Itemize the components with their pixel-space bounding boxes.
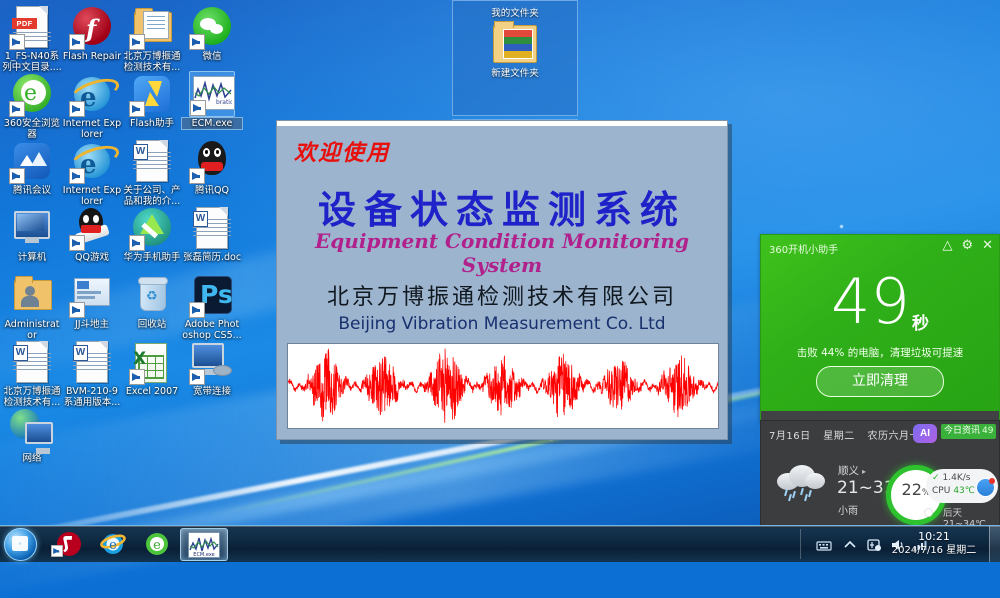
boot-time-unit: 秒: [912, 314, 929, 334]
jj-game-icon: [69, 272, 115, 318]
vibration-waveform-chart: [287, 343, 719, 429]
weather-system-widget[interactable]: 7月16日 星期二 农历六月十一 AI 今日资讯49 顺义▸ 21~31 小雨 …: [760, 420, 1000, 528]
notification-badge-icon[interactable]: [976, 478, 995, 497]
wallpaper-sparkle: [840, 225, 843, 228]
sun-icon: [921, 505, 934, 518]
desktop-icon-label: 宽带连接: [182, 386, 242, 397]
boot-time-value: 49秒: [761, 271, 999, 355]
ie-icon: e: [69, 138, 115, 184]
desktop-icon-label: Internet Explorer: [62, 118, 122, 140]
desktop-icon-label: 网络: [2, 453, 62, 464]
net-speed-value: 1.4K/s: [943, 473, 971, 483]
shortcut-arrow-icon: [69, 302, 85, 318]
taskbar-item-ecm-app[interactable]: ECM.exe: [180, 528, 228, 561]
desktop-icon-label: 360安全浏览器: [2, 118, 62, 140]
desktop-icon[interactable]: eInternet Explorer: [62, 71, 122, 140]
desktop-icon[interactable]: PDF1_FS-N40系列中文目录....: [2, 4, 62, 73]
shortcut-arrow-icon: [189, 168, 205, 184]
desktop-icon[interactable]: WBVM-210-9系通用版本...: [62, 339, 122, 408]
network-icon: [9, 406, 55, 452]
svg-text:e: e: [109, 538, 117, 553]
weather-date: 7月16日: [769, 431, 811, 442]
folder-doc-icon: [129, 4, 175, 50]
wechat-icon: [189, 4, 235, 50]
show-hidden-icons-chevron-icon[interactable]: [842, 538, 858, 552]
desktop-icon[interactable]: brationECM.exe: [182, 71, 242, 129]
shortcut-arrow-icon: [69, 101, 85, 117]
desktop-icon-label: 关于公司、产品和我的介...: [122, 185, 182, 207]
widget-subtitle: 击败 44% 的电脑，清理垃圾可提速: [761, 345, 999, 360]
desktop-icon[interactable]: PsAdobe Photoshop CS5...: [182, 272, 242, 341]
system-tray[interactable]: 10:21 2024/7/16 星期二: [800, 526, 1000, 562]
desktop-icon-label: Excel 2007: [122, 386, 182, 397]
desktop-icon-label: 华为手机助手: [122, 252, 182, 263]
gear-icon[interactable]: ⚙: [961, 238, 973, 251]
computer-icon: [9, 205, 55, 251]
rain-cloud-icon: [775, 463, 827, 497]
cpu-temp-value: 43℃: [953, 486, 975, 496]
splash-company-chinese: 北京万博振通检测技术有限公司: [277, 279, 727, 311]
desktop-icon-label: BVM-210-9系通用版本...: [62, 386, 122, 408]
waveform-svg: [288, 344, 718, 428]
shirt-icon[interactable]: △: [942, 238, 952, 251]
ie-icon: e: [69, 71, 115, 117]
clean-now-button[interactable]: 立即清理: [816, 366, 944, 397]
desktop-icon-label: 回收站: [122, 319, 182, 330]
ecm-app-icon: ECM.exe: [188, 532, 220, 558]
desktop-icon[interactable]: 网络: [2, 406, 62, 464]
svg-text:e: e: [153, 538, 161, 553]
shortcut-arrow-icon: [190, 100, 206, 116]
tencent-meeting-icon: [9, 138, 55, 184]
shortcut-arrow-icon: [69, 34, 85, 50]
taskbar-item-flash-player[interactable]: [48, 528, 90, 559]
desktop-icon[interactable]: W张磊简历.doc: [182, 205, 242, 263]
shortcut-arrow-icon: [9, 34, 25, 50]
desktop-icon-label: 北京万博振通检测技术有...: [2, 386, 62, 408]
photoshop-icon: Ps: [189, 272, 235, 318]
folder-stack-caption: 我的文件夹: [453, 1, 577, 19]
splash-title-chinese: 设备状态监测系统: [277, 179, 727, 234]
taskbar-item-360-browser[interactable]: e: [136, 528, 178, 559]
shortcut-arrow-icon: [69, 235, 85, 251]
360-browser-icon: e: [144, 531, 170, 557]
desktop-icon[interactable]: 腾讯QQ: [182, 138, 242, 196]
shortcut-arrow-icon: [129, 369, 145, 385]
news-count: 49: [982, 426, 993, 436]
desktop-icon-label: 北京万博振通检测技术有...: [122, 51, 182, 73]
user-folder-icon: [9, 272, 55, 318]
ai-button[interactable]: AI: [913, 424, 937, 443]
taskbar[interactable]: e e ECM.exe 10:21 2024/7/16 星期二: [0, 525, 1000, 562]
shortcut-arrow-icon: [189, 369, 205, 385]
splash-window[interactable]: 欢迎使用 设备状态监测系统 Equipment Condition Monito…: [276, 120, 728, 440]
svg-text:ECM.exe: ECM.exe: [193, 552, 214, 557]
splash-top-border: [277, 121, 727, 126]
desktop-icon[interactable]: ♻回收站: [122, 272, 182, 330]
word-doc-icon: W: [189, 205, 235, 251]
huawei-icon: [129, 205, 175, 251]
network-speed-row: ✓1.4K/s: [932, 473, 970, 483]
system-stats-pill[interactable]: ✓1.4K/s CPU43℃: [926, 469, 998, 503]
desktop-icon-label: 1_FS-N40系列中文目录....: [2, 51, 62, 73]
desktop-icon[interactable]: JJ斗地主: [62, 272, 122, 330]
desktop-icon[interactable]: e360安全浏览器: [2, 71, 62, 140]
desktop-icon-label: 腾讯会议: [2, 185, 62, 196]
widget-title: 360开机小助手: [769, 241, 838, 256]
desktop-icon[interactable]: 计算机: [2, 205, 62, 263]
shortcut-arrow-icon: [69, 168, 85, 184]
taskbar-item-internet-explorer[interactable]: e: [92, 528, 134, 559]
check-icon: ✓: [932, 473, 940, 483]
desktop-icon[interactable]: fFlash Repair: [62, 4, 122, 62]
flash-icon: f: [69, 4, 115, 50]
keyboard-icon[interactable]: [816, 538, 832, 552]
windows-logo-icon: [12, 536, 28, 551]
desktop-icon[interactable]: W关于公司、产品和我的介...: [122, 138, 182, 207]
cpu-label: CPU: [932, 486, 950, 496]
desktop-icon-label: QQ游戏: [62, 252, 122, 263]
word-doc-icon: W: [69, 339, 115, 385]
desktop-icon[interactable]: 华为手机助手: [122, 205, 182, 263]
clock-time: 10:21: [884, 530, 984, 544]
pdf-icon: PDF: [9, 4, 55, 50]
desktop-icon-label: Flash Repair: [62, 51, 122, 62]
desktop-icon-label: 张磊简历.doc: [182, 252, 242, 263]
desktop-icon[interactable]: 微信: [182, 4, 242, 62]
action-center-icon[interactable]: [866, 538, 882, 552]
shortcut-arrow-icon: [51, 545, 63, 557]
desktop-icon[interactable]: Administrator: [2, 272, 62, 341]
close-icon[interactable]: ✕: [982, 238, 993, 251]
broadband-icon: [189, 339, 235, 385]
widget-tool-buttons[interactable]: △ ⚙ ✕: [942, 238, 993, 251]
folder-stack-card[interactable]: 我的文件夹 新建文件夹: [452, 0, 578, 116]
desktop-icon-label: Flash助手: [122, 118, 182, 129]
qq-icon: [189, 138, 235, 184]
desktop-icon[interactable]: QQ游戏: [62, 205, 122, 263]
internet-explorer-icon: e: [100, 531, 126, 557]
shortcut-arrow-icon: [189, 302, 205, 318]
ecm-icon: bration: [189, 71, 235, 117]
cpu-temp-row: CPU43℃: [932, 486, 975, 496]
weather-city[interactable]: 顺义▸: [838, 463, 866, 478]
desktop-icon[interactable]: 宽带连接: [182, 339, 242, 397]
desktop-icon[interactable]: Flash助手: [122, 71, 182, 129]
svg-text:bration: bration: [216, 99, 232, 106]
desktop-folder-stack[interactable]: 我的文件夹 新建文件夹: [452, 0, 578, 133]
shortcut-arrow-icon: [129, 235, 145, 251]
tray-divider: [800, 529, 801, 559]
360-boot-assistant-widget[interactable]: 360开机小助手 △ ⚙ ✕ 49秒 击败 44% 的电脑，清理垃圾可提速 立即…: [760, 234, 1000, 422]
splash-company-english: Beijing Vibration Measurement Co. Ltd: [277, 314, 727, 334]
desktop-icon[interactable]: XExcel 2007: [122, 339, 182, 397]
shortcut-arrow-icon: [9, 101, 25, 117]
folder-icon: [493, 25, 537, 63]
desktop-icon-label: ECM.exe: [182, 118, 242, 129]
desktop-icon-label: Internet Explorer: [62, 185, 122, 207]
360browser-icon: e: [9, 71, 55, 117]
weather-condition: 小雨: [838, 502, 858, 517]
desktop-icon[interactable]: 腾讯会议: [2, 138, 62, 196]
recycle-bin-icon: ♻: [129, 272, 175, 318]
weather-weekday: 星期二: [823, 431, 855, 442]
word-doc-icon: W: [129, 138, 175, 184]
flash-helper-icon: [129, 71, 175, 117]
desktop-icon-label: 计算机: [2, 252, 62, 263]
show-desktop-button[interactable]: [989, 526, 1000, 562]
excel-icon: X: [129, 339, 175, 385]
folder-stack-item[interactable]: 新建文件夹: [453, 19, 577, 85]
desktop-icon-label: Administrator: [2, 319, 62, 341]
shortcut-arrow-icon: [129, 101, 145, 117]
splash-welcome-text: 欢迎使用: [294, 135, 390, 167]
qq-game-icon: [69, 205, 115, 251]
desktop-icon-label: Adobe Photoshop CS5...: [182, 319, 242, 341]
shortcut-arrow-icon: [129, 34, 145, 50]
desktop-icon-label: JJ斗地主: [62, 319, 122, 330]
desktop-icon[interactable]: 北京万博振通检测技术有...: [122, 4, 182, 73]
start-button[interactable]: [4, 528, 37, 561]
shortcut-arrow-icon: [189, 34, 205, 50]
folder-stack-item-label: 新建文件夹: [453, 65, 577, 79]
news-button[interactable]: 今日资讯49: [941, 424, 996, 439]
desktop-icon[interactable]: eInternet Explorer: [62, 138, 122, 207]
splash-title-english: Equipment Condition Monitoring System: [277, 229, 727, 277]
chevron-right-icon: ▸: [862, 467, 866, 476]
desktop-icon-label: 微信: [182, 51, 242, 62]
desktop-icon-label: 腾讯QQ: [182, 185, 242, 196]
clock-date: 2024/7/16 星期二: [884, 544, 984, 558]
word-doc-icon: W: [9, 339, 55, 385]
shortcut-arrow-icon: [9, 168, 25, 184]
clock[interactable]: 10:21 2024/7/16 星期二: [884, 530, 984, 558]
desktop-icon[interactable]: W北京万博振通检测技术有...: [2, 339, 62, 408]
